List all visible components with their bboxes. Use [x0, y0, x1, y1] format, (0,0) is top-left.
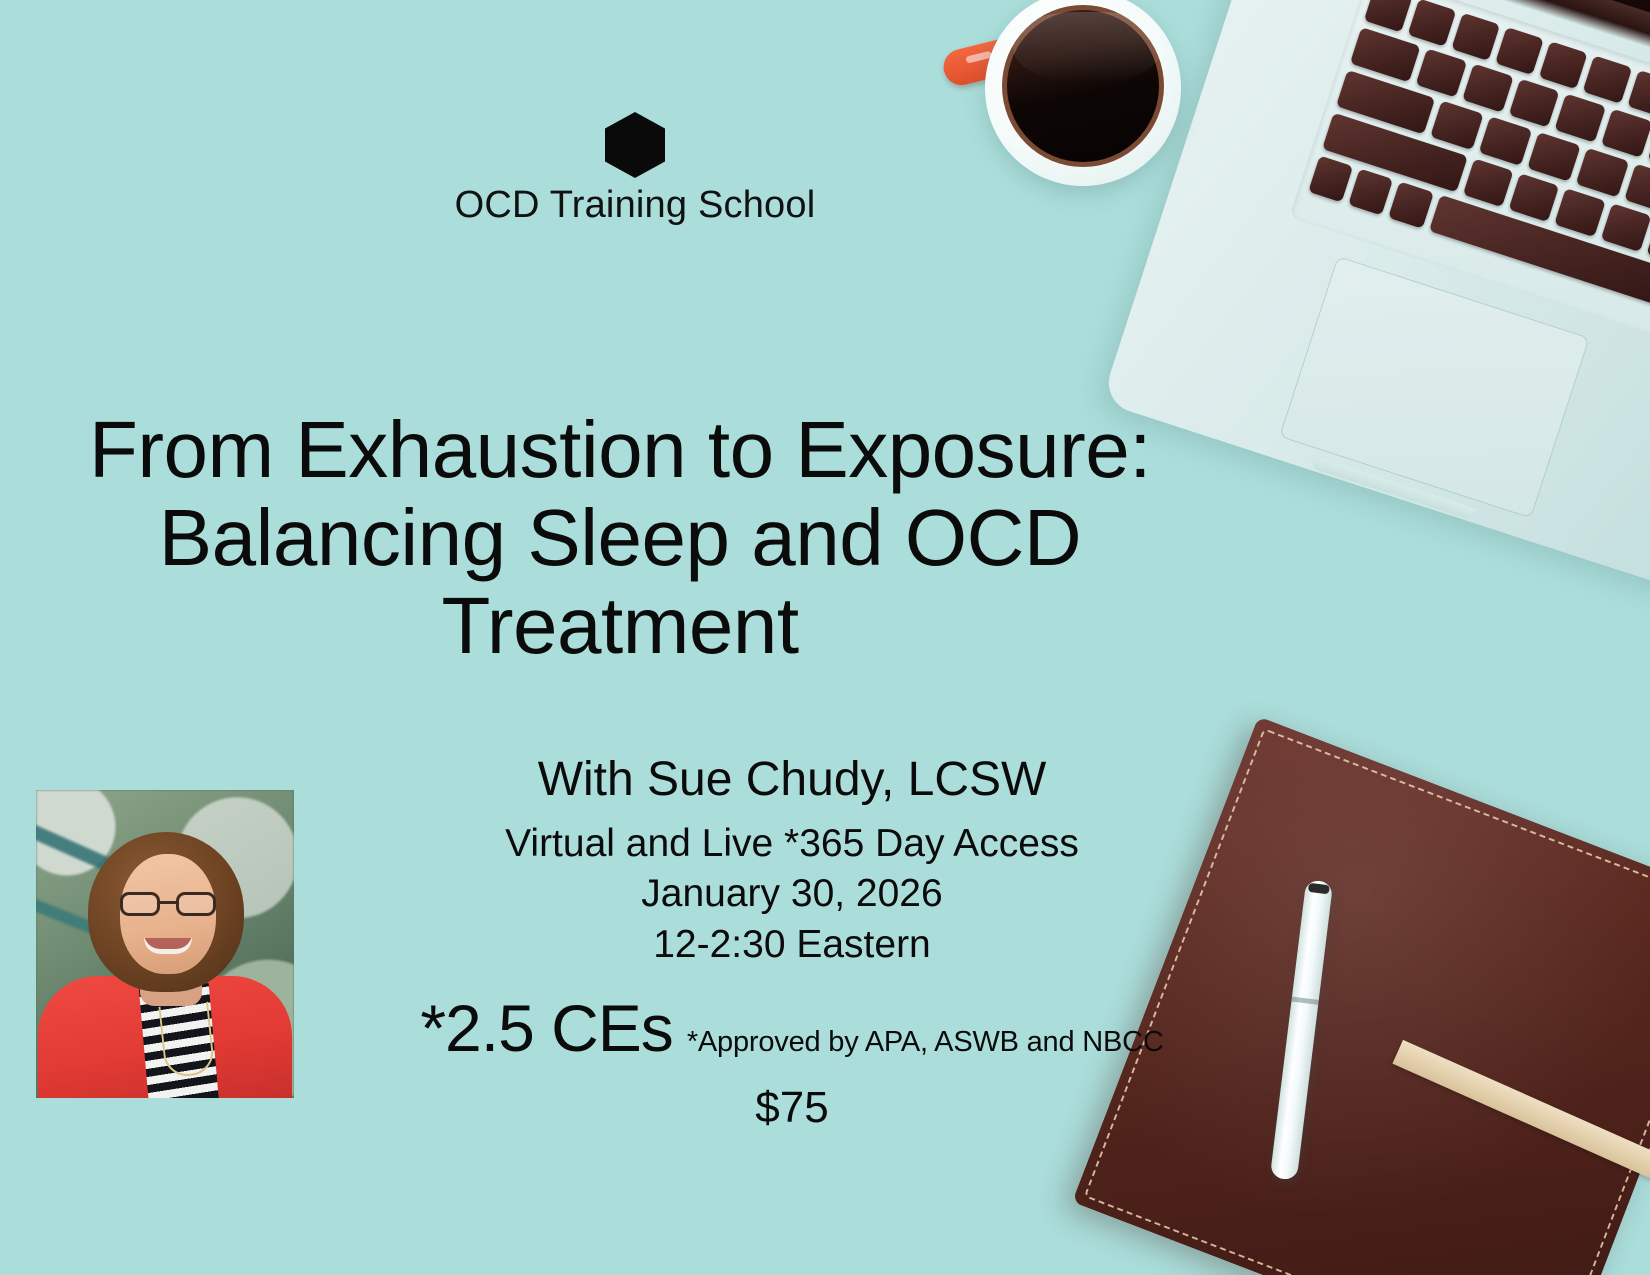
- poster-content: OCD Training School From Exhaustion to E…: [0, 0, 1650, 1275]
- glasses-icon: [120, 892, 216, 916]
- brand-lockup: OCD Training School: [0, 112, 1270, 227]
- ce-credits-row: *2.5 CEs *Approved by APA, ASWB and NBCC: [312, 995, 1272, 1061]
- brand-name: OCD Training School: [0, 184, 1270, 227]
- webinar-promo-poster: OCD Training School From Exhaustion to E…: [0, 0, 1650, 1275]
- presenter-byline: With Sue Chudy, LCSW: [312, 752, 1272, 809]
- page-title: From Exhaustion to Exposure: Balancing S…: [30, 406, 1210, 670]
- ce-credits-value: *2.5 CEs: [420, 995, 672, 1061]
- price: $75: [312, 1083, 1272, 1133]
- event-details: With Sue Chudy, LCSW Virtual and Live *3…: [312, 752, 1272, 1133]
- event-format: Virtual and Live *365 Day Access: [312, 819, 1272, 870]
- hexagon-icon: [605, 112, 665, 178]
- event-time: 12-2:30 Eastern: [312, 920, 1272, 971]
- avatar: [36, 790, 294, 1098]
- ce-approval-note: *Approved by APA, ASWB and NBCC: [687, 1026, 1164, 1059]
- event-date: January 30, 2026: [312, 869, 1272, 920]
